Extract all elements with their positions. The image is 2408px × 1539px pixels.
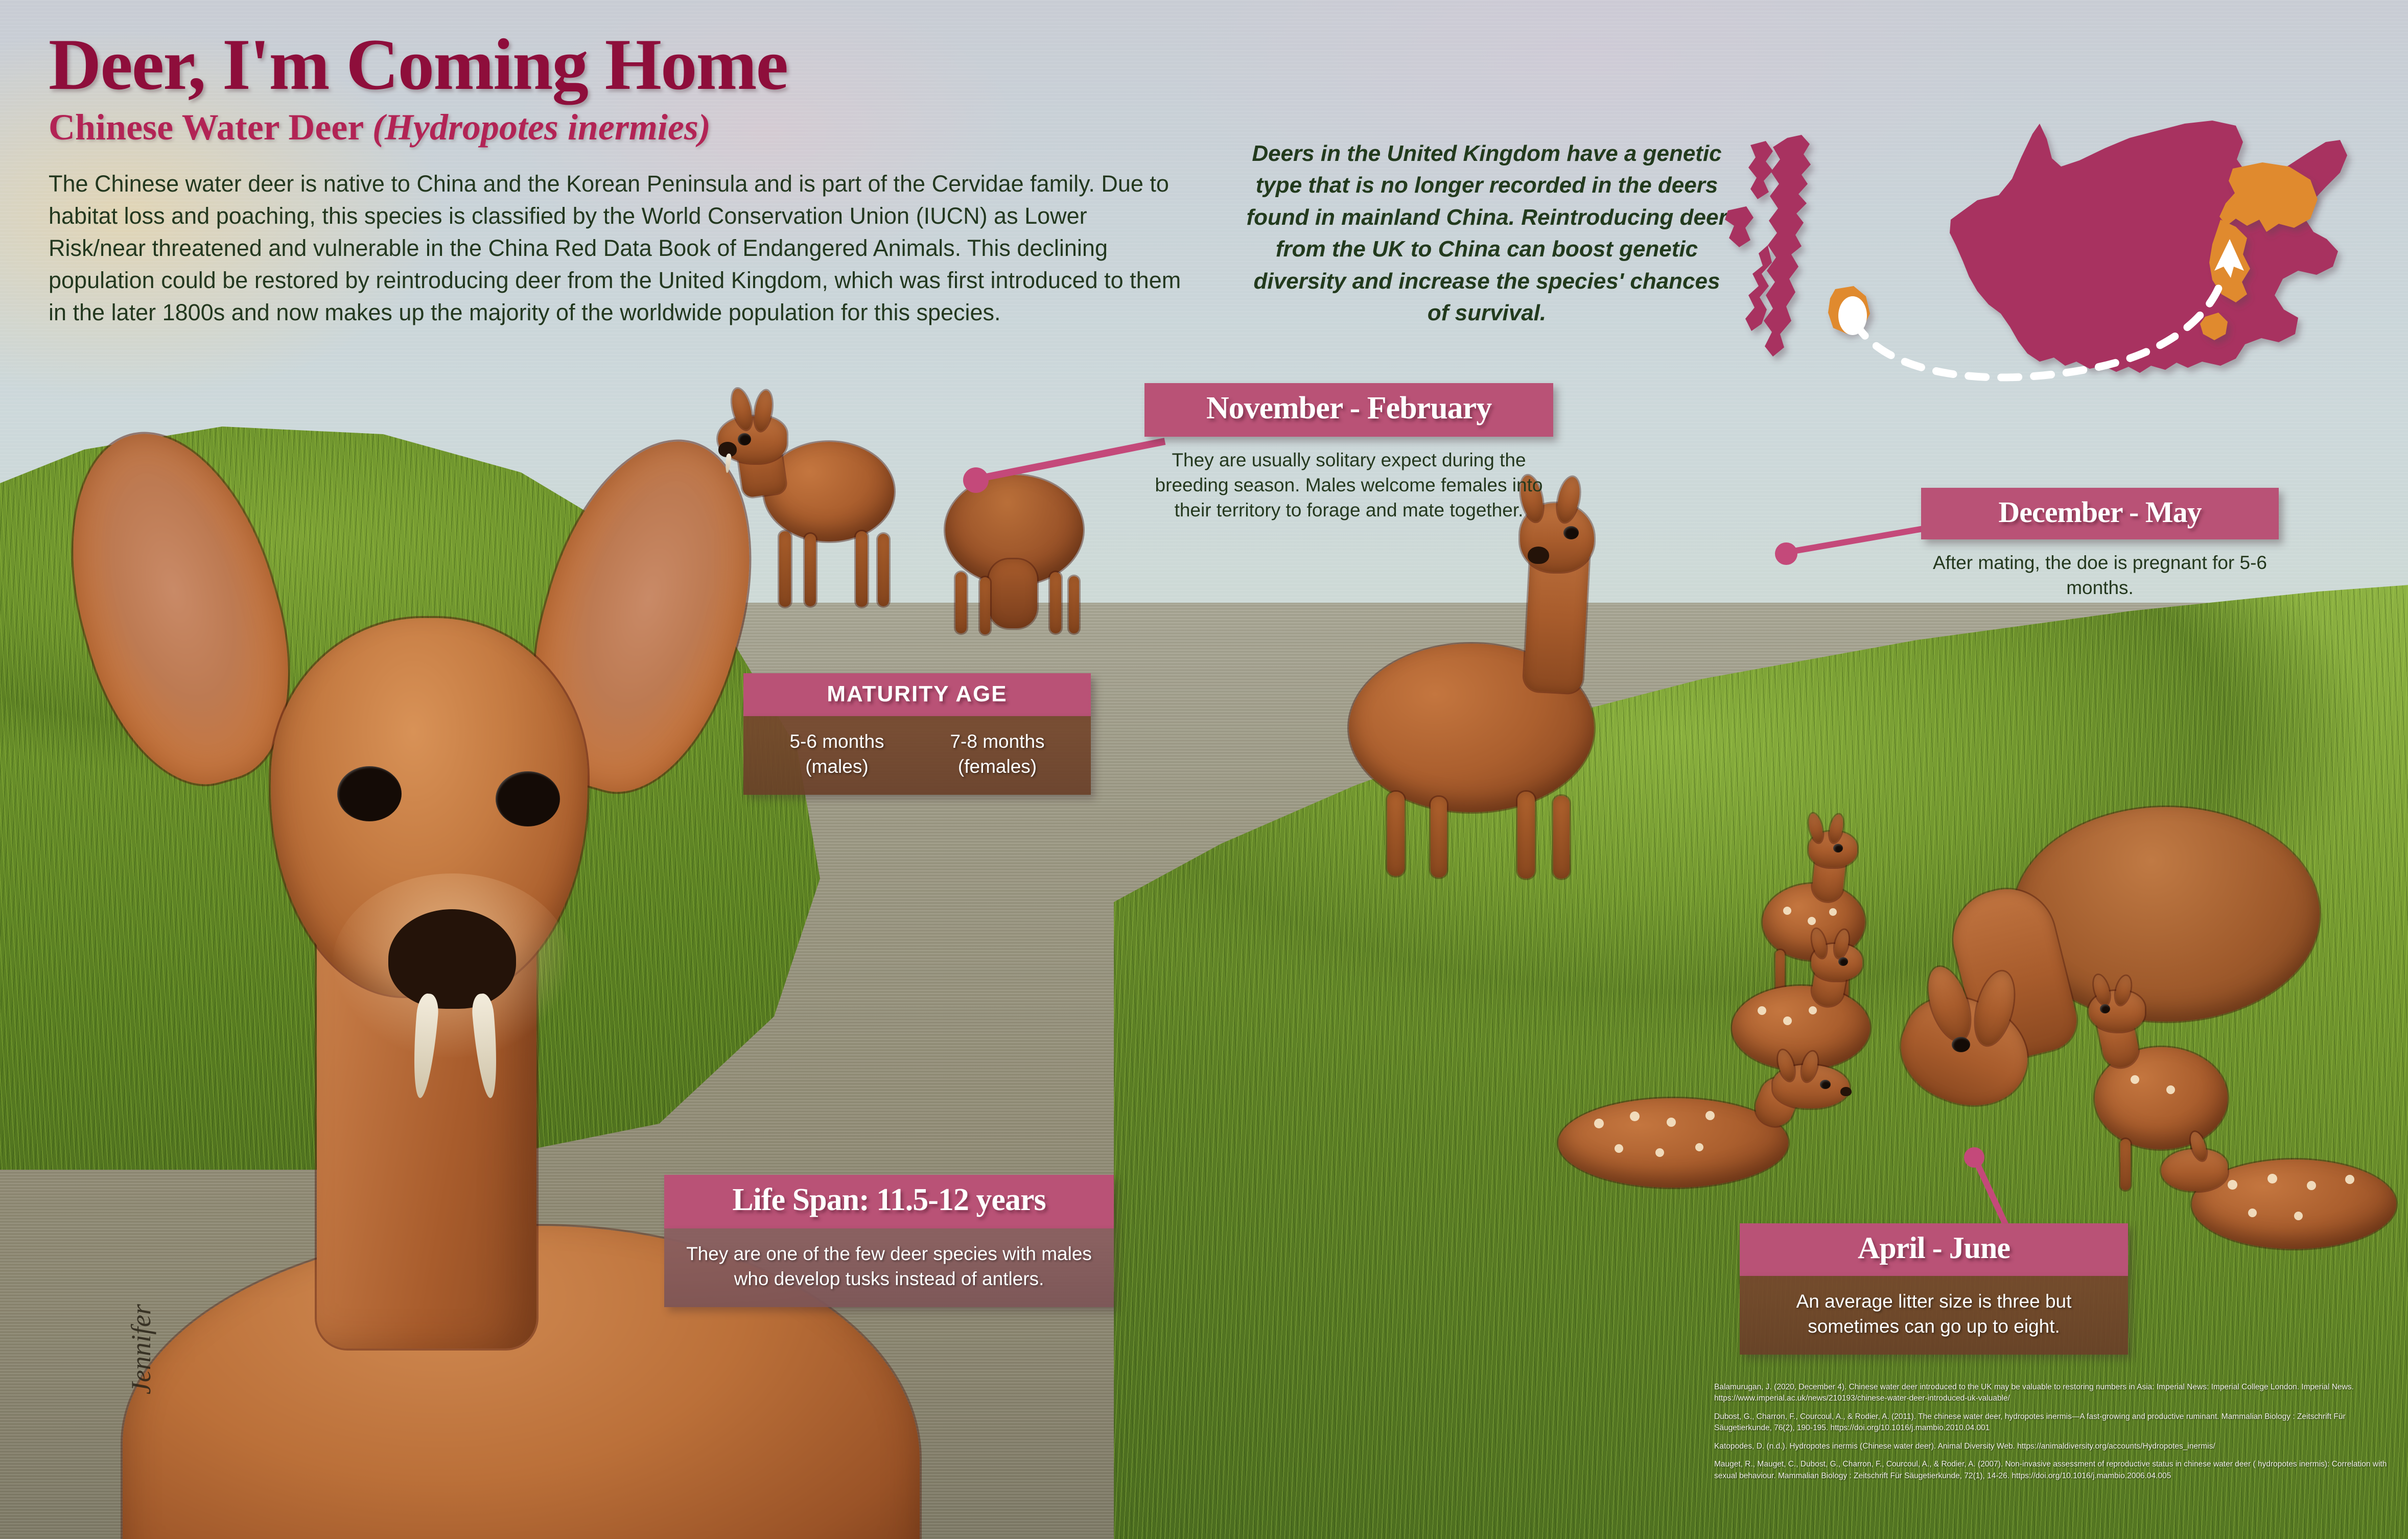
deer-e-spot-1 bbox=[1783, 907, 1791, 915]
deer-c-eye bbox=[1563, 526, 1579, 539]
deer-b-leg-1 bbox=[955, 572, 967, 633]
deer-i-spot-2 bbox=[2267, 1174, 2277, 1183]
map-origin-dot-icon bbox=[1838, 296, 1867, 335]
maturity-males-value: 5-6 months bbox=[757, 729, 917, 754]
callout-december-may-body: After mating, the doe is pregnant for 5-… bbox=[1921, 539, 2279, 601]
deer-e-eye bbox=[1833, 844, 1843, 853]
maturity-females-label: (females) bbox=[917, 754, 1078, 779]
deer-c-leg-3 bbox=[1517, 792, 1535, 879]
intro-paragraph: The Chinese water deer is native to Chin… bbox=[49, 168, 1188, 328]
deer-i-head bbox=[2161, 1149, 2228, 1191]
deer-g-spot-5 bbox=[1615, 1144, 1623, 1153]
deer-a-leg-2 bbox=[805, 534, 816, 606]
deer-c-leg-2 bbox=[1431, 797, 1447, 878]
references-list: Balamurugan, J. (2020, December 4). Chin… bbox=[1714, 1382, 2401, 1488]
deer-h-leg-1 bbox=[2120, 1139, 2131, 1190]
deer-h-spot-2 bbox=[2166, 1085, 2175, 1094]
life-span-body: They are one of the few deer species wit… bbox=[664, 1228, 1114, 1307]
maturity-cell-females: 7-8 months (females) bbox=[917, 729, 1078, 779]
deer-e-spot-2 bbox=[1808, 917, 1816, 925]
maturity-age-body: 5-6 months (males) 7-8 months (females) bbox=[743, 716, 1091, 795]
life-span-panel: Life Span: 11.5-12 years They are one of… bbox=[664, 1175, 1114, 1307]
callout-november-february: November - February They are usually sol… bbox=[1144, 383, 1553, 523]
deer-b-leg-2 bbox=[980, 577, 990, 634]
page-subtitle: Chinese Water Deer (Hydropotes inermies) bbox=[49, 105, 1219, 149]
species-scientific-name: (Hydropotes inermies) bbox=[372, 107, 711, 148]
maturity-age-panel: MATURITY AGE 5-6 months (males) 7-8 mont… bbox=[743, 673, 1091, 795]
hero-deer-eye-right bbox=[496, 771, 560, 826]
deer-a-leg-3 bbox=[856, 531, 868, 607]
reference-item-2: Dubost, G., Charron, F., Courcoul, A., &… bbox=[1714, 1411, 2401, 1434]
deer-g-spot-4 bbox=[1705, 1111, 1715, 1120]
reference-item-3: Katopodes, D. (n.d.). Hydropotes inermis… bbox=[1714, 1441, 2401, 1452]
deer-f-eye bbox=[1838, 957, 1848, 966]
deer-a-leg-4 bbox=[878, 534, 889, 606]
deer-c-leg-1 bbox=[1387, 792, 1405, 876]
deer-g-eye bbox=[1820, 1080, 1831, 1089]
deer-f-spot-2 bbox=[1783, 1016, 1792, 1025]
reintroduction-map bbox=[1701, 117, 2408, 383]
page-title: Deer, I'm Coming Home bbox=[49, 28, 1219, 101]
deer-f-spot-1 bbox=[1758, 1006, 1766, 1015]
reference-item-4: Mauget, R., Mauget, C., Dubost, G., Char… bbox=[1714, 1459, 2401, 1482]
maturity-females-value: 7-8 months bbox=[917, 729, 1078, 754]
deer-g-nose bbox=[1840, 1087, 1852, 1096]
deer-grazing bbox=[935, 475, 1093, 638]
maturity-age-title: MATURITY AGE bbox=[743, 673, 1091, 716]
map-uk-landmass bbox=[1725, 135, 1811, 357]
deer-g-spot-7 bbox=[1695, 1143, 1703, 1151]
deer-a-eye bbox=[738, 433, 751, 445]
deer-h-eye bbox=[2100, 1004, 2110, 1013]
deer-h-spot-1 bbox=[2131, 1075, 2139, 1084]
maturity-age-cells: 5-6 months (males) 7-8 months (females) bbox=[757, 729, 1078, 779]
deer-i-spot-6 bbox=[2294, 1212, 2303, 1220]
callout-december-may-title: December - May bbox=[1921, 488, 2279, 539]
deer-f-body bbox=[1732, 986, 1870, 1070]
deer-i-spot-3 bbox=[2307, 1181, 2316, 1190]
deer-c-leg-4 bbox=[1553, 796, 1570, 879]
hero-deer-eye-left bbox=[337, 766, 402, 821]
maturity-cell-males: 5-6 months (males) bbox=[757, 729, 917, 779]
deer-standing-male bbox=[715, 388, 899, 608]
callout-april-june-title: April - June bbox=[1740, 1223, 2128, 1276]
deer-e-spot-3 bbox=[1829, 908, 1837, 916]
deer-a-leg-1 bbox=[779, 531, 791, 607]
deer-i-spot-4 bbox=[2345, 1175, 2354, 1184]
deer-b-leg-3 bbox=[1050, 572, 1061, 633]
maturity-males-label: (males) bbox=[757, 754, 917, 779]
callout-november-february-body: They are usually solitary expect during … bbox=[1144, 437, 1553, 523]
deer-a-body bbox=[764, 442, 894, 541]
deer-f-spot-3 bbox=[1809, 1006, 1817, 1014]
deer-i-spot-1 bbox=[2228, 1180, 2237, 1190]
callout-april-june: April - June An average litter size is t… bbox=[1740, 1223, 2128, 1355]
deer-b-neck-down bbox=[989, 559, 1037, 628]
callout-november-february-title: November - February bbox=[1144, 383, 1553, 437]
deer-fawn-lying bbox=[1558, 1062, 1875, 1200]
deer-fawn-lying-right bbox=[2192, 1134, 2408, 1257]
deer-g-body bbox=[1558, 1098, 1788, 1188]
life-span-title: Life Span: 11.5-12 years bbox=[664, 1175, 1114, 1228]
deer-g-spot-1 bbox=[1594, 1119, 1604, 1128]
infographic-canvas: Deer, I'm Coming Home Chinese Water Deer… bbox=[0, 0, 2408, 1539]
species-common-name: Chinese Water Deer bbox=[49, 107, 372, 148]
deer-g-spot-2 bbox=[1630, 1111, 1640, 1121]
deer-doe-standing bbox=[1339, 475, 1686, 884]
map-note-text: Deers in the United Kingdom have a genet… bbox=[1242, 138, 1732, 329]
deer-g-spot-6 bbox=[1655, 1148, 1664, 1157]
artist-signature: Jennifer bbox=[125, 1272, 248, 1394]
callout-april-june-body: An average litter size is three but some… bbox=[1740, 1276, 2128, 1355]
deer-i-spot-5 bbox=[2248, 1209, 2257, 1217]
callout-december-may: December - May After mating, the doe is … bbox=[1921, 488, 2279, 601]
deer-c-nose bbox=[1528, 547, 1549, 564]
deer-d-eye bbox=[1952, 1037, 1970, 1052]
title-block: Deer, I'm Coming Home Chinese Water Deer… bbox=[49, 28, 1219, 328]
deer-g-spot-3 bbox=[1667, 1118, 1676, 1127]
hero-deer-nose bbox=[388, 909, 516, 1009]
map-china-landmass bbox=[1950, 121, 2347, 373]
deer-b-leg-4 bbox=[1069, 576, 1079, 633]
map-svg bbox=[1701, 117, 2408, 383]
reference-item-1: Balamurugan, J. (2020, December 4). Chin… bbox=[1714, 1382, 2401, 1405]
